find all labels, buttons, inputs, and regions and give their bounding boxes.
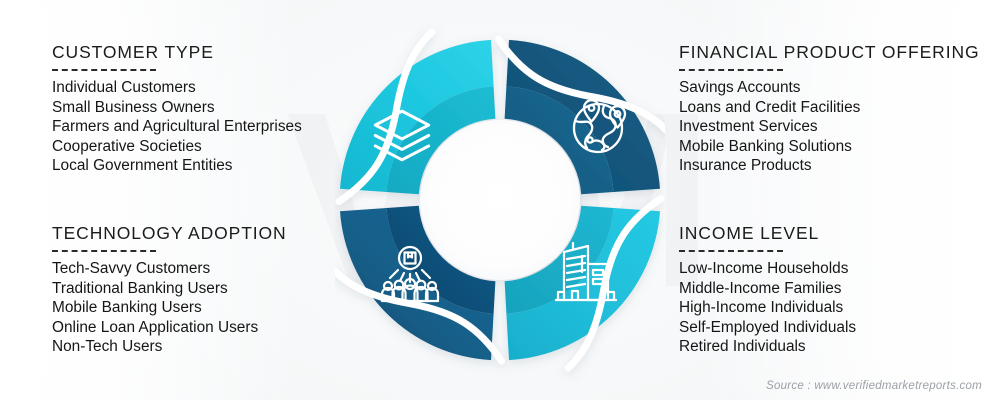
panel-list-financial-product-offering: Savings Accounts Loans and Credit Facili… xyxy=(679,78,980,176)
donut-chart-svg xyxy=(335,18,665,382)
panel-rule-technology-adoption xyxy=(52,250,156,252)
list-item: Middle-Income Families xyxy=(679,279,856,299)
panel-title-technology-adoption: TECHNOLOGY ADOPTION xyxy=(52,223,287,244)
panel-list-income-level: Low-Income Households Middle-Income Fami… xyxy=(679,259,856,357)
panel-list-technology-adoption: Tech-Savvy Customers Traditional Banking… xyxy=(52,259,287,357)
list-item: Loans and Credit Facilities xyxy=(679,98,980,118)
panel-title-customer-type: CUSTOMER TYPE xyxy=(52,42,302,63)
list-item: Traditional Banking Users xyxy=(52,279,287,299)
panel-financial-product-offering: FINANCIAL PRODUCT OFFERING Savings Accou… xyxy=(679,42,980,176)
list-item: Mobile Banking Solutions xyxy=(679,137,980,157)
panel-income-level: INCOME LEVEL Low-Income Households Middl… xyxy=(679,223,856,357)
list-item: Farmers and Agricultural Enterprises xyxy=(52,117,302,137)
source-note: Source : www.verifiedmarketreports.com xyxy=(766,380,982,392)
panel-title-income-level: INCOME LEVEL xyxy=(679,223,856,244)
list-item: Local Government Entities xyxy=(52,156,302,176)
list-item: Non-Tech Users xyxy=(52,337,287,357)
list-item: Retired Individuals xyxy=(679,337,856,357)
list-item: Individual Customers xyxy=(52,78,302,98)
donut-center-hole xyxy=(420,120,580,280)
list-item: Tech-Savvy Customers xyxy=(52,259,287,279)
panel-list-customer-type: Individual Customers Small Business Owne… xyxy=(52,78,302,176)
list-item: Low-Income Households xyxy=(679,259,856,279)
panel-title-financial-product-offering: FINANCIAL PRODUCT OFFERING xyxy=(679,42,980,63)
panel-rule-customer-type xyxy=(52,69,156,71)
list-item: Small Business Owners xyxy=(52,98,302,118)
panel-rule-income-level xyxy=(679,250,783,252)
list-item: Savings Accounts xyxy=(679,78,980,98)
panel-technology-adoption: TECHNOLOGY ADOPTION Tech-Savvy Customers… xyxy=(52,223,287,357)
list-item: Self-Employed Individuals xyxy=(679,318,856,338)
panel-rule-financial-product-offering xyxy=(679,69,783,71)
list-item: High-Income Individuals xyxy=(679,298,856,318)
donut-chart xyxy=(335,18,665,382)
list-item: Insurance Products xyxy=(679,156,980,176)
list-item: Online Loan Application Users xyxy=(52,318,287,338)
list-item: Mobile Banking Users xyxy=(52,298,287,318)
list-item: Investment Services xyxy=(679,117,980,137)
list-item: Cooperative Societies xyxy=(52,137,302,157)
panel-customer-type: CUSTOMER TYPE Individual Customers Small… xyxy=(52,42,302,176)
